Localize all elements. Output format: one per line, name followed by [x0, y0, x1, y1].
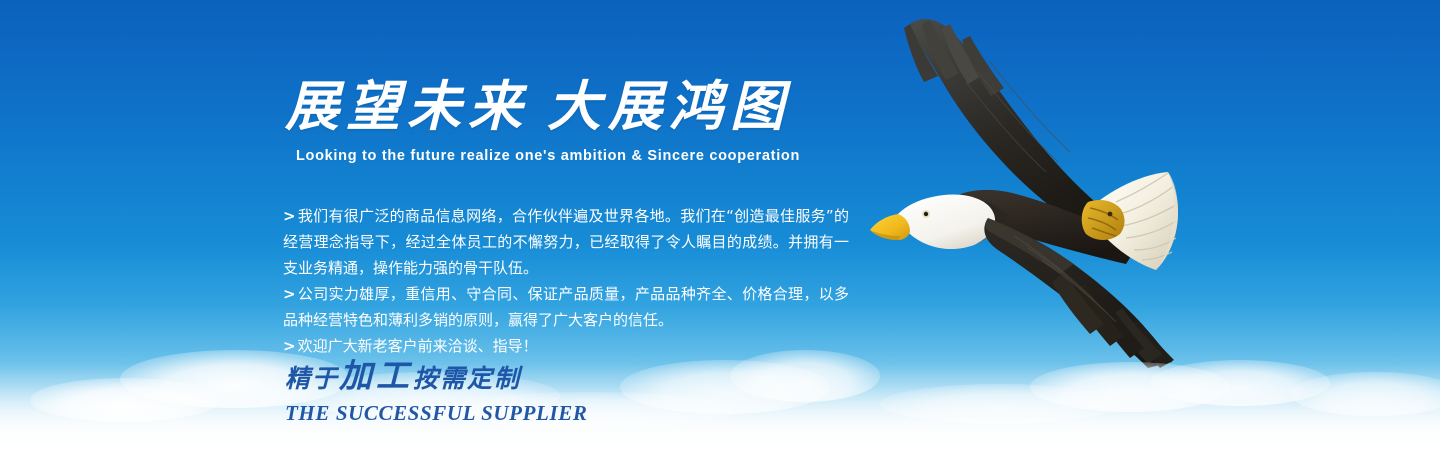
eagle-illustration [838, 2, 1258, 402]
headline-subtitle: Looking to the future realize one's ambi… [296, 148, 800, 164]
hero-banner: 展望未来大展鸿图 Looking to the future realize o… [0, 0, 1440, 450]
body-paragraph: >我们有很广泛的商品信息网络，合作伙伴遍及世界各地。我们在“创造最佳服务”的经营… [283, 203, 849, 281]
body-paragraph-text: 公司实力雄厚，重信用、守合同、保证产品质量，产品品种齐全、价格合理，以多品种经营… [283, 285, 849, 329]
bullet-marker: > [283, 337, 296, 355]
body-paragraph-text: 欢迎广大新老客户前来洽谈、指导！ [298, 337, 538, 355]
body-copy: >我们有很广泛的商品信息网络，合作伙伴遍及世界各地。我们在“创造最佳服务”的经营… [283, 203, 849, 359]
slogan-cn-large: 加工 [339, 359, 413, 395]
slogan-english: THE SUCCESSFUL SUPPLIER [285, 401, 587, 425]
bullet-marker: > [283, 285, 296, 303]
bottom-slogan: 精于加工按需定制 THE SUCCESSFUL SUPPLIER [285, 360, 587, 425]
slogan-cn-small-2: 按需定制 [413, 366, 521, 393]
headline-part-2: 大展鸿图 [547, 77, 791, 137]
headline-part-1: 展望未来 [285, 77, 529, 137]
slogan-cn-small-1: 精于 [285, 366, 339, 393]
body-paragraph-text: 我们有很广泛的商品信息网络，合作伙伴遍及世界各地。我们在“创造最佳服务”的经营理… [283, 207, 849, 277]
body-paragraph: >欢迎广大新老客户前来洽谈、指导！ [283, 333, 849, 359]
headline: 展望未来大展鸿图 [285, 78, 791, 136]
body-paragraph: >公司实力雄厚，重信用、守合同、保证产品质量，产品品种齐全、价格合理，以多品种经… [283, 281, 849, 333]
slogan-chinese: 精于加工按需定制 [285, 360, 587, 400]
bullet-marker: > [283, 207, 296, 225]
